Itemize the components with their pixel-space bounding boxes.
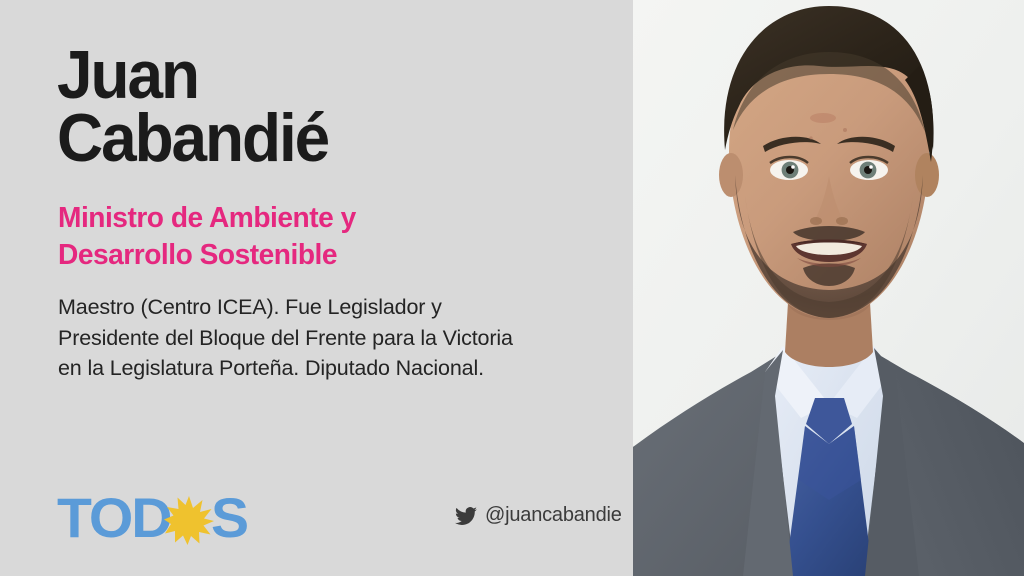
info-panel: Juan Cabandié Ministro de Ambiente y Des…	[0, 0, 633, 576]
twitter-handle-text: @juancabandie	[485, 504, 622, 527]
sun-icon	[164, 495, 214, 545]
speaker-profile-card: Juan Cabandié Ministro de Ambiente y Des…	[0, 0, 1024, 576]
todos-logo-text-last: S	[211, 490, 247, 546]
todos-logo: TOD S	[57, 486, 247, 550]
todos-logo-text-first: TOD	[57, 490, 170, 546]
twitter-bird-icon	[455, 505, 477, 527]
person-bio: Maestro (Centro ICEA). Fue Legislador y …	[58, 292, 598, 384]
person-name: Juan Cabandié	[57, 44, 583, 169]
portrait-photo	[633, 0, 1024, 576]
person-role: Ministro de Ambiente y Desarrollo Sosten…	[58, 200, 562, 274]
twitter-handle[interactable]: @juancabandie	[455, 504, 622, 527]
